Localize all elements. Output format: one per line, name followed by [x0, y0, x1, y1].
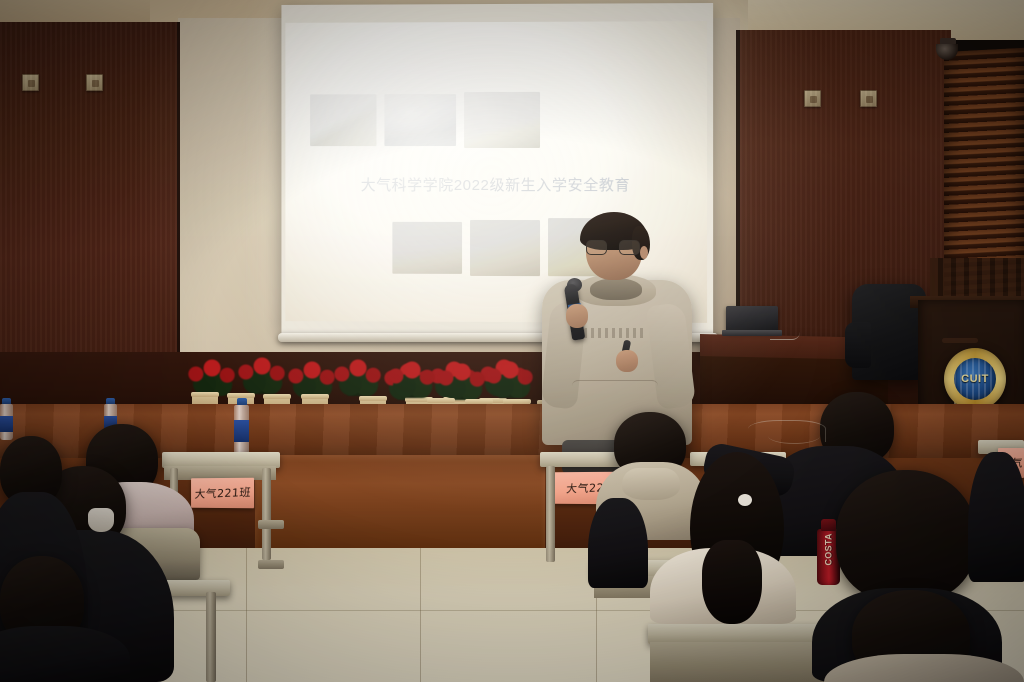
poinsettia-bloom [434, 360, 488, 400]
presenter-hand-holding-mic [566, 304, 588, 328]
presentation-laptop[interactable] [726, 306, 778, 332]
bottle-label [234, 420, 249, 442]
class-name-card: 大气221班 [191, 478, 254, 509]
bottle-cap [237, 398, 247, 405]
presenter-hand-holding-clicker [616, 350, 638, 372]
student-torso [968, 452, 1024, 582]
wall-outlet-plate[interactable] [86, 74, 103, 91]
presenter-hood-inner [590, 278, 642, 300]
student-torso [588, 498, 648, 588]
desk-leg [262, 468, 271, 560]
student-desk[interactable] [648, 624, 826, 644]
laptop-cable [770, 332, 800, 340]
slide-image-sky-trees [464, 92, 540, 148]
armchair-armrest [845, 322, 871, 368]
eyeglasses-icon [586, 240, 642, 255]
hair-tie [738, 494, 752, 506]
wall-outlet-plate[interactable] [804, 90, 821, 107]
poinsettia-bloom [330, 356, 384, 396]
costa-brand-label: COSTA [824, 543, 834, 566]
slide-title-text: 大气科学学院2022级新生入学安全教育 [285, 174, 707, 195]
emblem-globe-icon: CUIT [954, 358, 996, 400]
cable-bundle [768, 428, 820, 444]
poinsettia-bloom [184, 356, 238, 396]
wall-outlet-plate[interactable] [860, 90, 877, 107]
presenter-hoodie-print [584, 328, 646, 338]
poinsettia-bloom [234, 354, 288, 394]
slide-image-campus-rock [310, 94, 376, 146]
desk-leg [206, 592, 216, 682]
mineral-water-bottle[interactable] [0, 398, 13, 440]
left-wood-panel-wall [0, 22, 180, 400]
poinsettia-bloom [384, 358, 438, 398]
bottle-label [0, 416, 13, 432]
face-mask [88, 508, 114, 532]
wall-outlet-plate[interactable] [22, 74, 39, 91]
cuit-university-emblem: CUIT [944, 348, 1006, 410]
student-desk-front [650, 642, 824, 682]
desk-crossbar [258, 560, 284, 569]
slide-image-city-night [384, 94, 456, 146]
podium-slot [942, 338, 978, 343]
student-head [836, 470, 976, 602]
stage-riser-step [255, 455, 545, 550]
student-hair-strand [702, 540, 762, 624]
emblem-label: CUIT [961, 373, 989, 385]
class-name-card-text: 大气221班 [194, 484, 251, 502]
desk-leg [546, 466, 555, 562]
desk-crossbar [258, 520, 284, 529]
costa-bottle-cap [821, 519, 836, 531]
lecture-hall-scene: 大气科学学院2022级新生入学安全教育 [0, 0, 1024, 682]
student-hood [622, 468, 680, 500]
slide-image-campus-gate [392, 222, 462, 274]
